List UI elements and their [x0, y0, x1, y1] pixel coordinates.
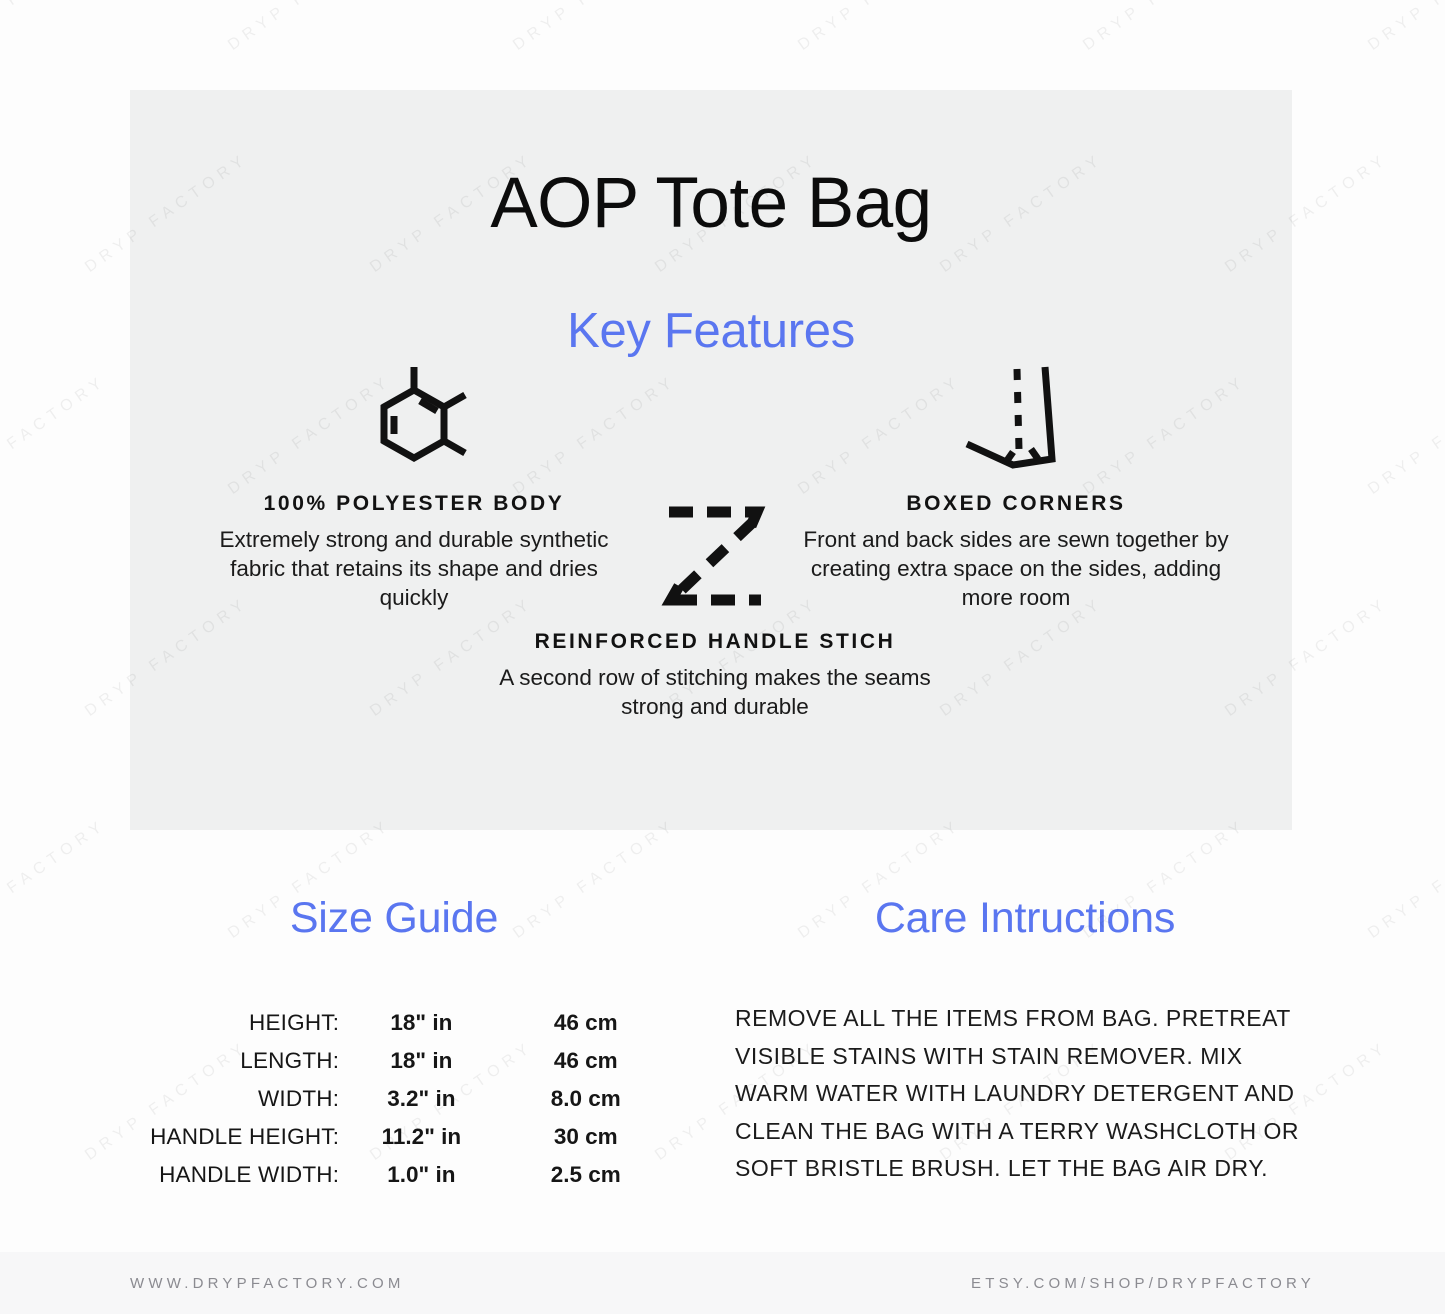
watermark-text: DRYP FACTORY [1080, 0, 1250, 55]
size-guide-row: LENGTH:18" in46 cm [120, 1042, 668, 1080]
size-guide-label: HANDLE HEIGHT: [120, 1118, 339, 1156]
size-guide-row: HANDLE HEIGHT:11.2" in30 cm [120, 1118, 668, 1156]
size-guide-cm: 46 cm [504, 1042, 668, 1080]
size-guide-cm: 8.0 cm [504, 1080, 668, 1118]
footer-bar: WWW.DRYPFACTORY.COM ETSY.COM/SHOP/DRYPFA… [0, 1252, 1445, 1314]
care-instructions-title: Care Intructions [735, 897, 1315, 940]
size-guide-table: HEIGHT:18" in46 cmLENGTH:18" in46 cmWIDT… [120, 1004, 668, 1194]
watermark-text: DRYP FACTORY [795, 0, 965, 55]
watermark-text: DRYP FACTORY [0, 0, 110, 55]
key-features-heading: Key Features [130, 307, 1292, 356]
size-guide-row: WIDTH:3.2" in8.0 cm [120, 1080, 668, 1118]
size-guide-inches: 3.2" in [339, 1080, 503, 1118]
size-guide-inches: 11.2" in [339, 1118, 503, 1156]
watermark-text: DRYP FACTORY [510, 0, 680, 55]
watermark-text: DRYP FACTORY [225, 0, 395, 55]
care-instructions-body: REMOVE ALL THE ITEMS FROM BAG. PRETREAT … [735, 1000, 1315, 1188]
care-instructions-section: Care Intructions REMOVE ALL THE ITEMS FR… [735, 897, 1315, 1188]
size-guide-section: Size Guide HEIGHT:18" in46 cmLENGTH:18" … [120, 897, 668, 1194]
size-guide-cm: 30 cm [504, 1118, 668, 1156]
feature-heading: REINFORCED HANDLE STICH [499, 630, 931, 654]
footer-website-link[interactable]: WWW.DRYPFACTORY.COM [130, 1275, 405, 1292]
watermark-text: DRYP FACTORY [0, 816, 110, 943]
size-guide-inches: 18" in [339, 1004, 503, 1042]
boxed-corner-stitch-icon [800, 362, 1232, 474]
size-guide-cm: 2.5 cm [504, 1156, 668, 1194]
watermark-text: DRYP FACTORY [0, 372, 110, 499]
watermark-text: DRYP FACTORY [1365, 0, 1445, 55]
feature-reinforced-handle-stitch: REINFORCED HANDLE STICH A second row of … [499, 500, 931, 721]
zigzag-stitch-icon [499, 500, 931, 612]
footer-shop-link[interactable]: ETSY.COM/SHOP/DRYPFACTORY [971, 1275, 1315, 1292]
size-guide-label: WIDTH: [120, 1080, 339, 1118]
key-features-card: AOP Tote Bag Key Features [130, 90, 1292, 830]
size-guide-label: HEIGHT: [120, 1004, 339, 1042]
size-guide-inches: 1.0" in [339, 1156, 503, 1194]
size-guide-inches: 18" in [339, 1042, 503, 1080]
feature-description: A second row of stitching makes the seam… [499, 663, 931, 721]
size-guide-row: HANDLE WIDTH:1.0" in2.5 cm [120, 1156, 668, 1194]
molecule-hexagon-icon [198, 362, 630, 474]
watermark-text: DRYP FACTORY [1365, 372, 1445, 499]
size-guide-cm: 46 cm [504, 1004, 668, 1042]
watermark-text: DRYP FACTORY [1365, 816, 1445, 943]
size-guide-label: LENGTH: [120, 1042, 339, 1080]
size-guide-title: Size Guide [120, 897, 668, 940]
size-guide-row: HEIGHT:18" in46 cm [120, 1004, 668, 1042]
size-guide-label: HANDLE WIDTH: [120, 1156, 339, 1194]
page-title: AOP Tote Bag [130, 168, 1292, 239]
